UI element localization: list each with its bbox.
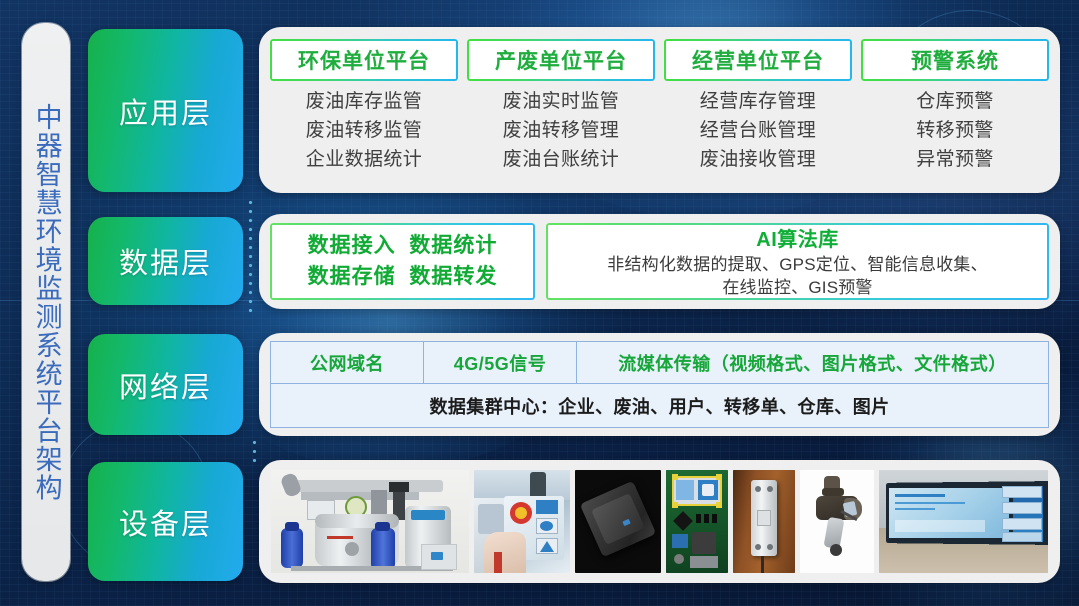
background-dot-line-2 — [250, 438, 259, 462]
oil-recycling-machine-photo[interactable] — [271, 470, 469, 573]
layer-chip-application[interactable]: 应用层 — [88, 29, 243, 192]
application-column-header[interactable]: 环保单位平台 — [270, 39, 458, 81]
network-cell-domain[interactable]: 公网域名 — [271, 342, 424, 383]
black-storage-device-photo[interactable] — [575, 470, 661, 573]
in-vehicle-tablet-photo[interactable] — [474, 470, 570, 573]
network-cell-streaming[interactable]: 流媒体传输（视频格式、图片格式、文件格式） — [577, 342, 1048, 383]
application-item[interactable]: 仓库预警 — [916, 88, 994, 117]
background-dot-line-1 — [246, 198, 256, 318]
application-column-header[interactable]: 预警系统 — [861, 39, 1049, 81]
application-item[interactable]: 企业数据统计 — [306, 146, 422, 175]
layer-chip-application-label: 应用层 — [119, 90, 212, 132]
layer-chip-device[interactable]: 设备层 — [88, 462, 243, 581]
application-item[interactable]: 废油实时监管 — [503, 88, 619, 117]
application-item[interactable]: 转移预警 — [916, 117, 994, 146]
application-item[interactable]: 废油转移管理 — [503, 117, 619, 146]
application-column-header[interactable]: 产废单位平台 — [467, 39, 655, 81]
control-room-video-wall-photo[interactable] — [879, 470, 1048, 573]
application-column-header-label: 环保单位平台 — [298, 45, 430, 75]
ai-algorithm-library-box[interactable]: AI算法库 非结构化数据的提取、GPS定位、智能信息收集、 在线监控、GIS预警 — [546, 223, 1049, 300]
application-column-header-label: 经营单位平台 — [692, 45, 824, 75]
application-layer-panel: 环保单位平台 废油库存监管 废油转移监管 企业数据统计 产废单位平台 废油实时监… — [259, 27, 1060, 193]
page-title: 中器智慧环境监测系统平台架构 — [22, 23, 70, 581]
layer-chip-network-label: 网络层 — [119, 364, 212, 406]
application-item[interactable]: 废油转移监管 — [306, 117, 422, 146]
application-item[interactable]: 异常预警 — [916, 146, 994, 175]
application-column-header-label: 预警系统 — [911, 45, 999, 75]
application-item[interactable]: 经营台账管理 — [700, 117, 816, 146]
data-layer-panel: 数据接入 数据统计 数据存储 数据转发 AI算法库 非结构化数据的提取、GPS定… — [259, 214, 1060, 309]
device-layer-panel — [259, 460, 1060, 583]
application-column-header-label: 产废单位平台 — [495, 45, 627, 75]
pcb-circuit-board-photo[interactable] — [666, 470, 728, 573]
ai-algorithm-library-desc-line: 非结构化数据的提取、GPS定位、智能信息收集、 — [607, 254, 988, 277]
wall-mounted-sensor-photo[interactable] — [733, 470, 795, 573]
data-capabilities-box[interactable]: 数据接入 数据统计 数据存储 数据转发 — [270, 223, 535, 300]
data-capabilities-line: 数据存储 数据转发 — [308, 262, 498, 292]
application-item[interactable]: 经营库存管理 — [700, 88, 816, 117]
handheld-camera-device-photo[interactable] — [800, 470, 874, 573]
application-column-huanbao: 环保单位平台 废油库存监管 废油转移监管 企业数据统计 — [270, 39, 458, 183]
network-cell-row: 公网域名 4G/5G信号 流媒体传输（视频格式、图片格式、文件格式） — [270, 341, 1049, 383]
application-item[interactable]: 废油台账统计 — [503, 146, 619, 175]
ai-algorithm-library-title: AI算法库 — [756, 223, 839, 252]
network-data-cluster-center[interactable]: 数据集群中心：企业、废油、用户、转移单、仓库、图片 — [270, 383, 1049, 428]
architecture-diagram: 中器智慧环境监测系统平台架构 应用层 数据层 网络层 设备层 环保单位平台 废油… — [0, 0, 1079, 606]
layer-chip-network[interactable]: 网络层 — [88, 334, 243, 435]
network-cell-signal[interactable]: 4G/5G信号 — [424, 342, 577, 383]
application-column-yujing: 预警系统 仓库预警 转移预警 异常预警 — [861, 39, 1049, 183]
ai-algorithm-library-desc-line: 在线监控、GIS预警 — [722, 277, 872, 300]
layer-chip-device-label: 设备层 — [119, 501, 212, 543]
layer-chip-data[interactable]: 数据层 — [88, 217, 243, 305]
page-title-text: 中器智慧环境监测系统平台架构 — [31, 103, 60, 502]
application-column-chanfei: 产废单位平台 废油实时监管 废油转移管理 废油台账统计 — [467, 39, 655, 183]
network-layer-panel: 公网域名 4G/5G信号 流媒体传输（视频格式、图片格式、文件格式） 数据集群中… — [259, 333, 1060, 436]
application-column-header[interactable]: 经营单位平台 — [664, 39, 852, 81]
application-item[interactable]: 废油接收管理 — [700, 146, 816, 175]
application-column-jingying: 经营单位平台 经营库存管理 经营台账管理 废油接收管理 — [664, 39, 852, 183]
layer-chip-data-label: 数据层 — [119, 240, 212, 282]
application-item[interactable]: 废油库存监管 — [306, 88, 422, 117]
data-capabilities-line: 数据接入 数据统计 — [308, 231, 498, 261]
